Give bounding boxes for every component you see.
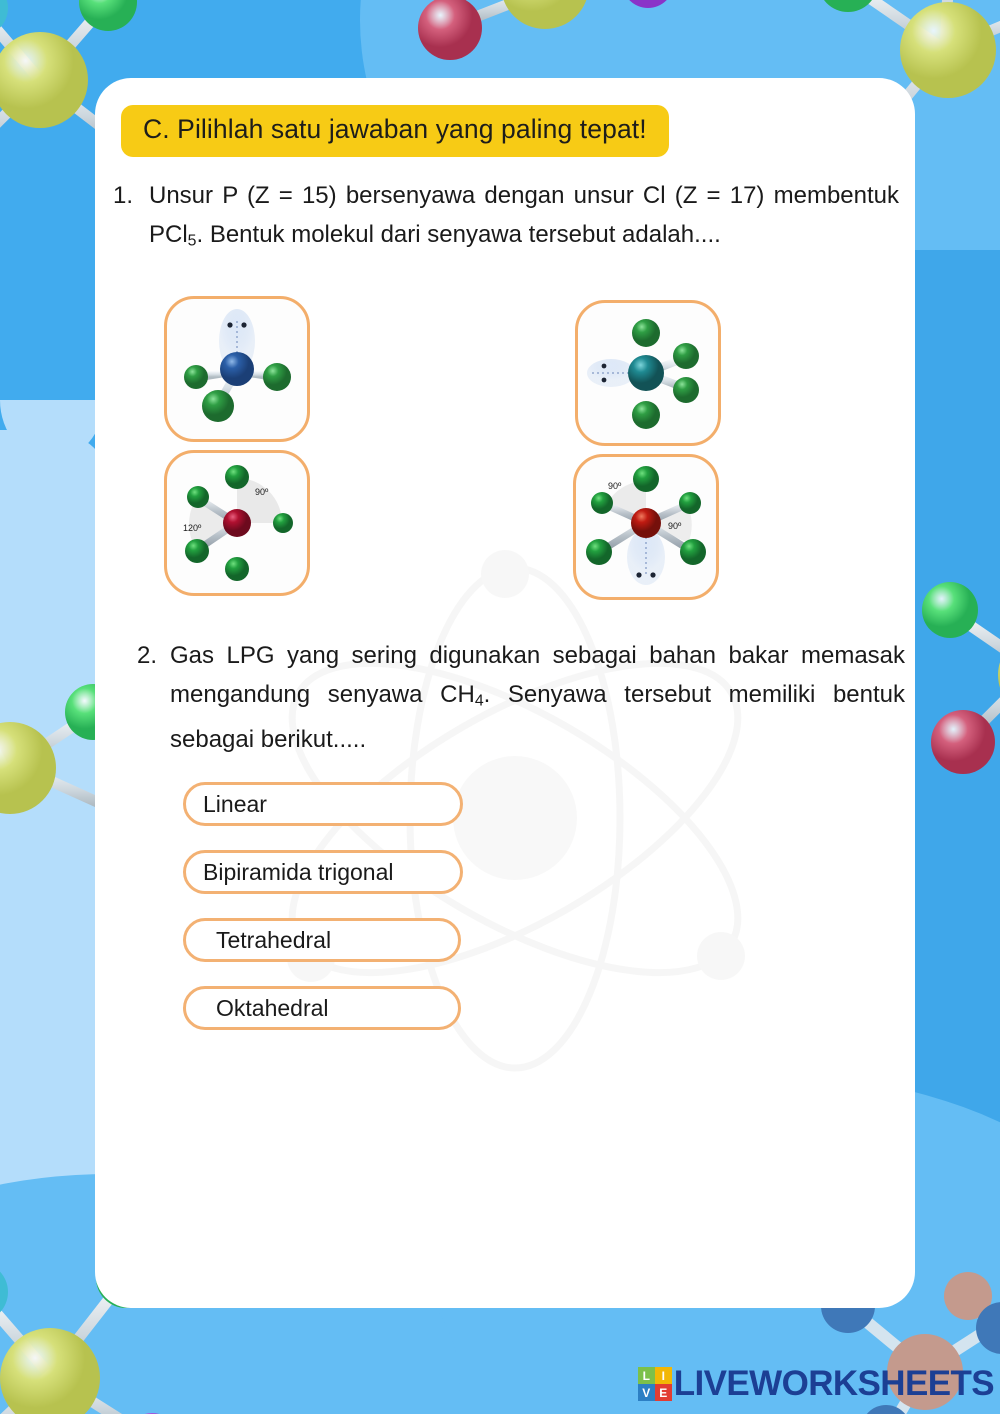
background-band-left-top <box>0 400 104 460</box>
question-2-line-2a: memasak <box>801 642 905 669</box>
molecule-square-pyramidal: 90º 90º <box>576 457 716 597</box>
angle-label-120: 120º <box>183 523 202 533</box>
image-option-square-pyramidal[interactable]: 90º 90º <box>573 454 719 600</box>
answer-option-oktahedral[interactable]: Oktahedral <box>183 986 461 1030</box>
image-option-seesaw[interactable] <box>575 300 721 446</box>
answer-option-linear[interactable]: Linear <box>183 782 463 826</box>
molecule-trigonal-pyramidal <box>167 299 307 439</box>
question-1-line-2b: . Bentuk molekul dari senyawa <box>196 221 522 248</box>
answer-option-bipiramida-trigonal-label: Bipiramida trigonal <box>203 859 393 886</box>
molecule-seesaw <box>578 303 718 443</box>
background-band-left <box>0 430 104 1280</box>
logo-square-v: V <box>638 1384 655 1401</box>
question-2-number: 2. <box>137 636 157 675</box>
angle-label-90: 90º <box>255 487 269 497</box>
decorative-molecule-right <box>915 520 1000 840</box>
image-option-trigonal-pyramidal[interactable] <box>164 296 310 442</box>
question-2-formula: CH4 <box>440 681 483 708</box>
angle-label-90-top: 90º <box>608 481 622 491</box>
question-2-line-2b: mengandung <box>170 681 310 708</box>
liveworksheets-wordmark: LIVEWORKSHEETS <box>674 1364 994 1404</box>
image-option-trigonal-bipyramidal[interactable]: 90º 120º <box>164 450 310 596</box>
answer-option-tetrahedral-label: Tetrahedral <box>216 927 331 954</box>
question-1-line-2a: membentuk <box>774 182 899 209</box>
section-header: C. Pilihlah satu jawaban yang paling tep… <box>121 105 669 157</box>
answer-option-bipiramida-trigonal[interactable]: Bipiramida trigonal <box>183 850 463 894</box>
question-2-line-2d: . Senyawa <box>484 681 607 708</box>
answer-option-oktahedral-label: Oktahedral <box>216 995 329 1022</box>
question-1-text: Unsur P (Z = 15) bersenyawa dengan unsur… <box>149 176 899 260</box>
logo-square-i: I <box>655 1367 672 1384</box>
molecule-trigonal-bipyramidal: 90º 120º <box>167 453 307 593</box>
question-2-text: Gas LPG yang sering digunakan sebagai ba… <box>170 636 905 759</box>
liveworksheets-logo-squares: L I V E <box>638 1367 672 1401</box>
worksheet-page: C. Pilihlah satu jawaban yang paling tep… <box>0 0 1000 1414</box>
question-1-number: 1. <box>113 176 133 215</box>
question-1-line-1: Unsur P (Z = 15) bersenyawa dengan unsur… <box>149 182 764 209</box>
question-1-line-3: tersebut adalah.... <box>529 221 721 248</box>
question-2-line-1: Gas LPG yang sering digunakan sebagai ba… <box>170 642 788 669</box>
question-2-line-2c: senyawa <box>328 681 423 708</box>
question-1-formula: PCl5 <box>149 221 196 248</box>
logo-square-e: E <box>655 1384 672 1401</box>
worksheet-card: C. Pilihlah satu jawaban yang paling tep… <box>95 78 915 1308</box>
logo-square-l: L <box>638 1367 655 1384</box>
angle-label-90-right: 90º <box>668 521 682 531</box>
answer-option-linear-label: Linear <box>203 791 267 818</box>
liveworksheets-logo[interactable]: L I V E LIVEWORKSHEETS <box>638 1362 994 1406</box>
answer-option-tetrahedral[interactable]: Tetrahedral <box>183 918 461 962</box>
